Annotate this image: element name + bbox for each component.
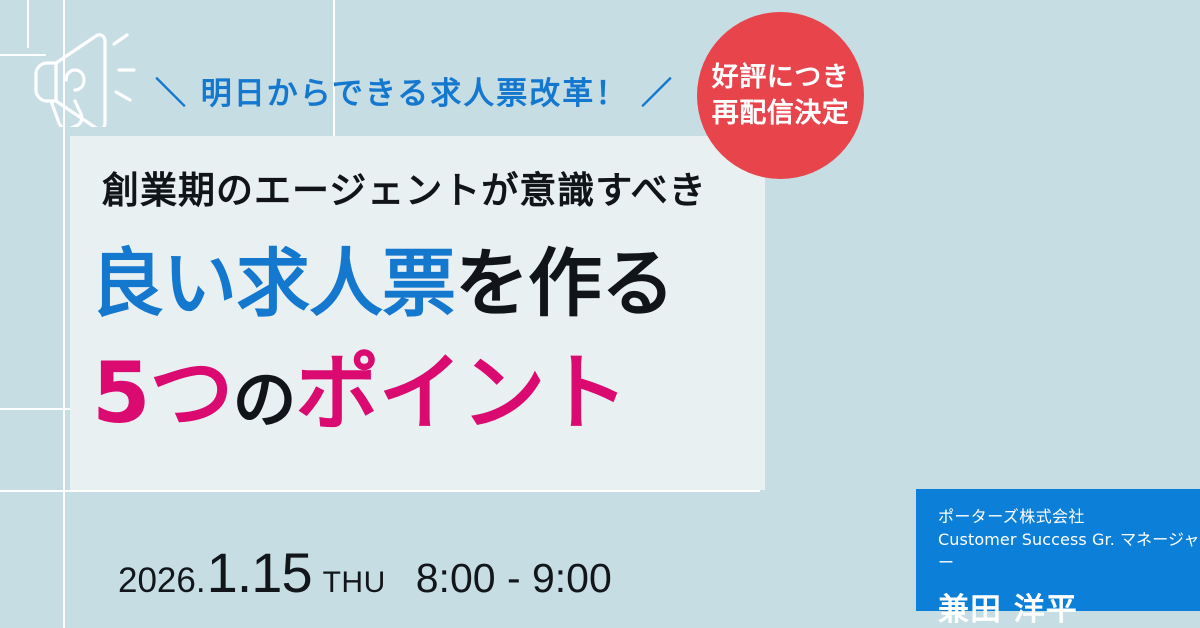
- headline-line-3: 5つのポイント: [92, 351, 627, 435]
- speaker-name: 兼田 洋平: [938, 584, 1200, 628]
- schedule-year: 2026.: [118, 561, 206, 601]
- status-badge: 好評につき 再配信決定: [697, 12, 864, 179]
- megaphone-icon: [18, 22, 138, 127]
- schedule-weekday: THU: [323, 566, 386, 600]
- schedule-day: 1.15: [207, 540, 312, 605]
- webinar-banner: ＼ 明日からできる求人票改革！ ／ 好評につき 再配信決定 創業期のエージェント…: [0, 0, 1200, 628]
- speaker-company: ポーターズ株式会社: [938, 505, 1200, 528]
- subtitle: ＼ 明日からできる求人票改革！ ／: [155, 68, 674, 113]
- headline-panel: 創業期のエージェントが意識すべき 良い求人票を作る 5つのポイント: [70, 136, 765, 490]
- headline-line-1: 創業期のエージェントが意識すべき: [102, 160, 707, 214]
- headline-line-2-rest: を作る: [455, 241, 674, 327]
- badge-line-2: 再配信決定: [712, 96, 850, 132]
- headline-point-word: ポイント: [295, 344, 627, 442]
- speaker-role: Customer Success Gr. マネージャー: [938, 528, 1200, 574]
- headline-line-3-particle: の: [232, 364, 295, 438]
- badge-line-1: 好評につき: [712, 60, 850, 96]
- headline-line-2-highlight: 良い求人票: [90, 241, 455, 327]
- headline-line-2: 良い求人票を作る: [90, 247, 674, 321]
- headline-point-count: 5つ: [92, 344, 232, 442]
- schedule: 2026. 1.15 THU 8:00 - 9:00: [118, 540, 612, 605]
- speaker-info: ポーターズ株式会社 Customer Success Gr. マネージャー 兼田…: [916, 489, 1200, 611]
- schedule-time: 8:00 - 9:00: [416, 555, 612, 602]
